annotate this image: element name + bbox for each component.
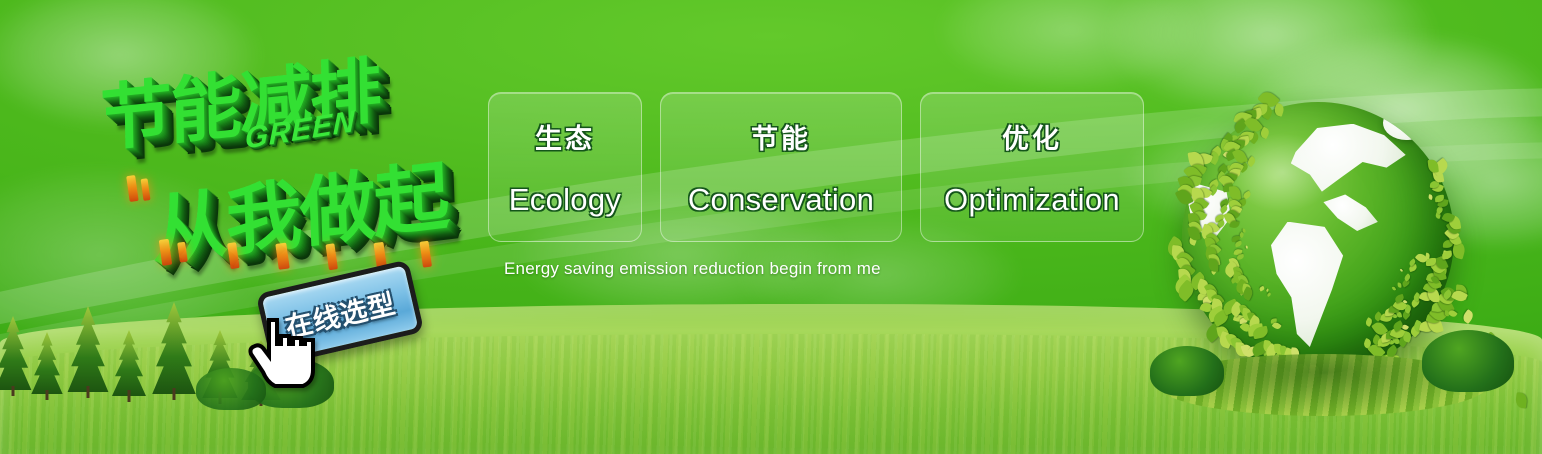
feature-card-ecology-en: Ecology [509, 182, 621, 218]
leaf-icon [1427, 315, 1444, 335]
leaf-icon [1448, 309, 1457, 318]
feature-card-conservation-en: Conservation [688, 182, 874, 218]
leafy-earth-globe-icon [1176, 88, 1476, 418]
feature-cards: 生态 Ecology 节能 Conservation 优化 Optimizati… [488, 92, 1144, 242]
leaf-icon [1460, 309, 1474, 324]
globe-highlight [1209, 118, 1356, 227]
online-selection-button-label: 在线选型 [281, 281, 399, 344]
bush-icon [1150, 346, 1224, 396]
feature-card-optimization-en: Optimization [944, 182, 1120, 218]
ember-glow [141, 178, 151, 201]
landmass-south-america [1264, 222, 1356, 353]
globe-sphere [1182, 102, 1454, 374]
feature-card-conservation[interactable]: 节能 Conservation [660, 92, 902, 242]
headline-3d: 节能减排 从我做起 GREEN [88, 26, 503, 283]
feature-card-ecology[interactable]: 生态 Ecology [488, 92, 642, 242]
feature-card-optimization-cn: 优化 [1002, 117, 1062, 156]
leaf-icon [1452, 289, 1469, 304]
feature-card-optimization[interactable]: 优化 Optimization [920, 92, 1144, 242]
feature-card-conservation-cn: 节能 [751, 117, 811, 156]
ember-glow [126, 175, 139, 202]
headline-line2: 从我做起 [150, 134, 449, 280]
banner-tagline: Energy saving emission reduction begin f… [504, 259, 881, 279]
leaf-icon [1444, 310, 1448, 316]
landmass-greenland [1383, 107, 1427, 140]
headline-line1: 节能减排 [99, 31, 380, 165]
bush-icon [1422, 330, 1514, 392]
feature-card-ecology-cn: 生态 [535, 117, 595, 156]
bush-icon [196, 368, 266, 410]
leaf-icon [1455, 285, 1467, 300]
eco-promo-banner: 节能减排 从我做起 GREEN 在线选型 生态 Ecology 节能 Conse… [0, 0, 1542, 454]
